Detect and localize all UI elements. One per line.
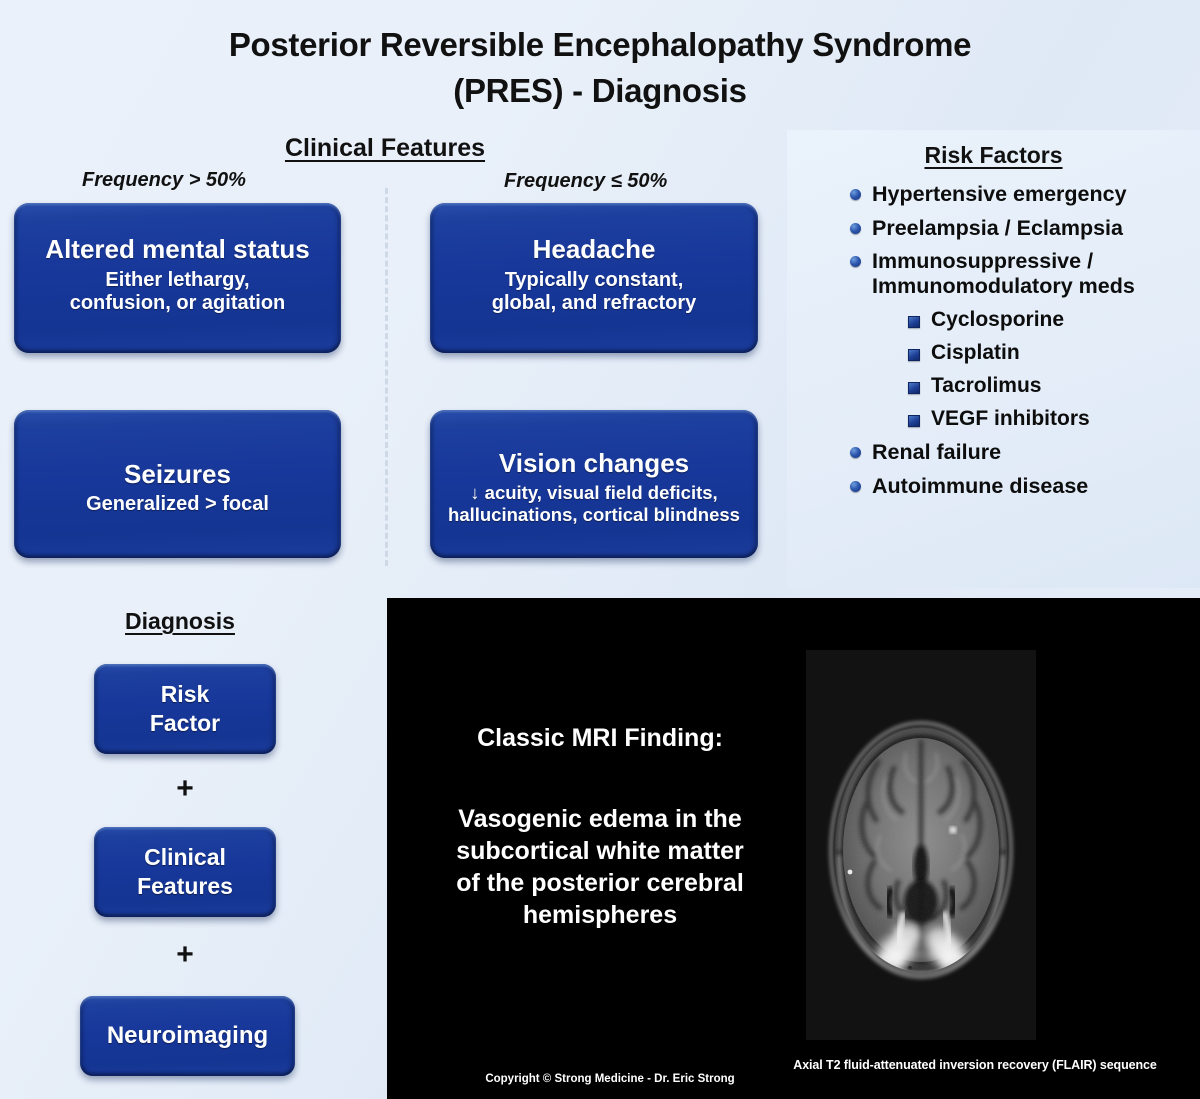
mri-text-block: Classic MRI Finding: Vasogenic edema in … [400,724,800,931]
list-item-label: Preelampsia / Eclampsia [872,216,1123,241]
list-item-label: Tacrolimus [931,374,1041,398]
list-item[interactable]: Autoimmune disease [850,474,1195,499]
mri-body-text: Vasogenic edema in the subcortical white… [400,803,800,931]
bullet-dot-icon [850,256,861,267]
bullet-square-icon [908,415,920,427]
list-item[interactable]: VEGF inhibitors [908,407,1195,431]
plus-separator-1: + [94,772,276,806]
frequency-lesser-label: Frequency ≤ 50% [504,170,667,193]
list-item[interactable]: Cyclosporine [908,308,1195,332]
axial-flair-brain-mri-image [806,650,1036,1040]
box-title: Risk Factor [150,680,220,739]
list-item-label: Autoimmune disease [872,474,1088,499]
clinical-features-divider [385,188,388,566]
mri-caption: Axial T2 fluid-attenuated inversion reco… [760,1058,1190,1072]
list-item-label: VEGF inhibitors [931,407,1090,431]
plus-separator-2: + [94,938,276,972]
box-title: Headache [533,234,656,264]
list-item-label: Cisplatin [931,341,1020,365]
frequency-greater-label: Frequency > 50% [82,169,246,192]
box-title: Neuroimaging [107,1022,268,1050]
list-item[interactable]: Renal failure [850,440,1195,465]
clinical-feature-box-altered-mental-status[interactable]: Altered mental status Either lethargy, c… [14,203,341,353]
box-subtitle: Either lethargy, confusion, or agitation [70,269,286,316]
box-title: Vision changes [499,448,689,478]
clinical-feature-box-seizures[interactable]: Seizures Generalized > focal [14,410,341,558]
box-title: Altered mental status [45,234,309,264]
clinical-feature-box-headache[interactable]: Headache Typically constant, global, and… [430,203,758,353]
box-subtitle: Typically constant, global, and refracto… [492,269,697,316]
list-item[interactable]: Preelampsia / Eclampsia [850,216,1195,241]
diagnosis-box-clinical-features[interactable]: Clinical Features [94,827,276,917]
risk-factors-list: Hypertensive emergency Preelampsia / Ecl… [850,182,1195,508]
diagnosis-box-neuroimaging[interactable]: Neuroimaging [80,996,295,1076]
infographic-canvas: Posterior Reversible Encephalopathy Synd… [0,0,1200,1099]
box-subtitle: Generalized > focal [86,493,269,517]
page-title: Posterior Reversible Encephalopathy Synd… [0,22,1200,114]
box-subtitle: ↓ acuity, visual field deficits, halluci… [448,482,740,526]
page-title-line-2: (PRES) - Diagnosis [0,68,1200,114]
box-title: Clinical Features [137,843,233,902]
bullet-dot-icon [850,481,861,492]
mri-heading: Classic MRI Finding: [400,724,800,753]
list-item-label: Immunosuppressive / Immunomodulatory med… [872,249,1135,298]
clinical-feature-box-vision-changes[interactable]: Vision changes ↓ acuity, visual field de… [430,410,758,558]
clinical-features-heading: Clinical Features [0,134,770,163]
bullet-square-icon [908,349,920,361]
page-title-line-1: Posterior Reversible Encephalopathy Synd… [0,22,1200,68]
diagnosis-heading: Diagnosis [0,608,360,635]
bullet-dot-icon [850,189,861,200]
copyright-notice: Copyright © Strong Medicine - Dr. Eric S… [430,1073,790,1085]
list-item-label: Renal failure [872,440,1001,465]
bullet-dot-icon [850,447,861,458]
diagnosis-box-risk-factor[interactable]: Risk Factor [94,664,276,754]
list-item[interactable]: Hypertensive emergency [850,182,1195,207]
bullet-square-icon [908,316,920,328]
list-item-label: Hypertensive emergency [872,182,1127,207]
box-title: Seizures [124,459,231,489]
list-item[interactable]: Immunosuppressive / Immunomodulatory med… [850,249,1195,298]
list-item[interactable]: Tacrolimus [908,374,1195,398]
risk-factors-heading: Risk Factors [787,142,1200,169]
bullet-dot-icon [850,223,861,234]
list-item[interactable]: Cisplatin [908,341,1195,365]
bullet-square-icon [908,382,920,394]
list-item-label: Cyclosporine [931,308,1064,332]
